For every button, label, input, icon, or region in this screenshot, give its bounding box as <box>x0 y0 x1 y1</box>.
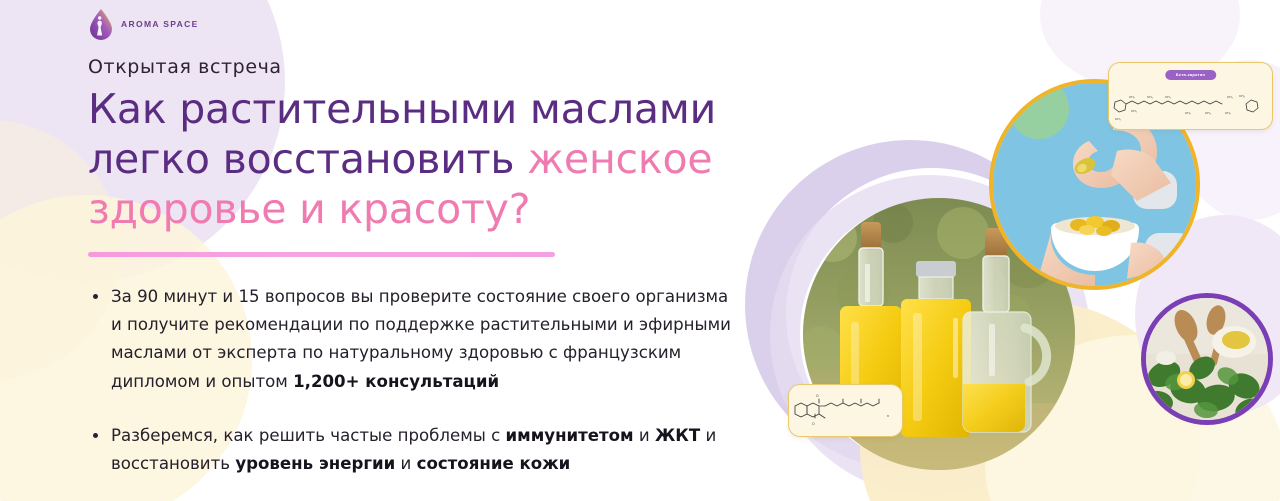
svg-text:n: n <box>887 414 889 418</box>
svg-text:CH₃: CH₃ <box>1225 111 1231 115</box>
vitamin-k-card: OOn <box>788 384 903 437</box>
benefit-list: За 90 минут и 15 вопросов вы проверите с… <box>88 283 740 478</box>
svg-text:CH₃: CH₃ <box>1239 94 1245 98</box>
list-item: Разберемся, как решить частые проблемы с… <box>88 422 740 478</box>
svg-text:CH₃: CH₃ <box>1147 95 1153 99</box>
headline-line-2: легко восстановить <box>88 135 527 183</box>
list-item: За 90 минут и 15 вопросов вы проверите с… <box>88 283 740 396</box>
gradient-divider <box>88 252 555 257</box>
hero-eyebrow: Открытая встреча <box>88 56 748 78</box>
droplet-logo-icon <box>88 8 114 40</box>
hero-visual: Бета-каротин CH₃CH₃CH₃ CH₃CH₃ CH₃CH₃ CH₃… <box>740 0 1280 501</box>
svg-text:CH₃: CH₃ <box>1165 95 1171 99</box>
svg-text:CH₃: CH₃ <box>1129 95 1135 99</box>
hero-banner: AROMA SPACE Открытая встреча Как растите… <box>0 0 1280 501</box>
svg-text:CH₃: CH₃ <box>1115 117 1121 121</box>
brand-name: AROMA SPACE <box>121 19 199 29</box>
vitamin-k-structure-icon: OOn <box>789 389 902 431</box>
molecule-pill-label: Бета-каротин <box>1165 70 1216 80</box>
page-title: Как растительными маслами легко восстано… <box>88 84 748 234</box>
beta-carotene-structure-icon: CH₃CH₃CH₃ CH₃CH₃ CH₃CH₃ CH₃CH₃CH₃ <box>1109 90 1272 124</box>
headline-line-1: Как растительными маслами <box>88 85 716 133</box>
brand-logo[interactable]: AROMA SPACE <box>88 8 199 40</box>
beta-carotene-card: Бета-каротин CH₃CH₃CH₃ CH₃CH₃ CH₃CH₃ CH₃… <box>1108 62 1273 130</box>
svg-text:CH₃: CH₃ <box>1131 109 1137 113</box>
svg-text:CH₃: CH₃ <box>1205 111 1211 115</box>
svg-text:O: O <box>816 394 819 398</box>
headline-line-3: здоровье и красоту? <box>88 185 530 233</box>
svg-text:CH₃: CH₃ <box>1227 95 1233 99</box>
svg-text:O: O <box>812 422 815 426</box>
greens-salad-photo <box>1146 298 1268 420</box>
hero-copy: Открытая встреча Как растительными масла… <box>88 56 748 478</box>
svg-text:CH₃: CH₃ <box>1185 111 1191 115</box>
headline-line-2-accent: женское <box>527 135 712 183</box>
